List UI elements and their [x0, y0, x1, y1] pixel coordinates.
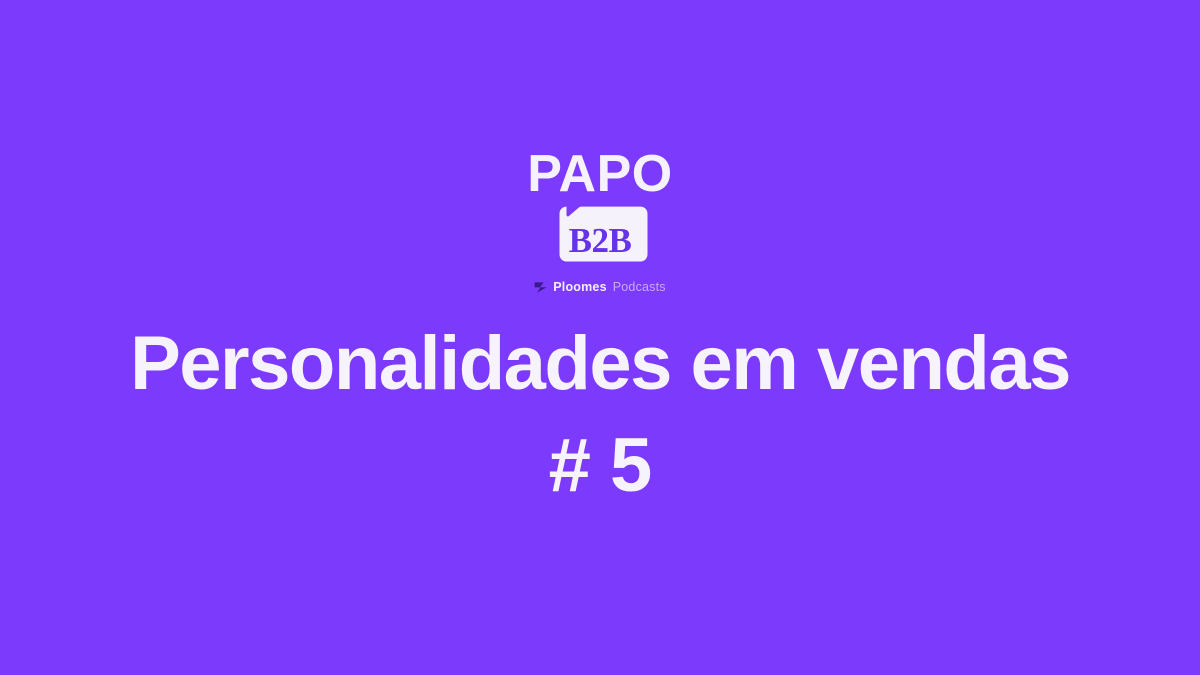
papo-b2b-logo: PAPO B2B Ploomes Podcasts [0, 148, 1200, 294]
episode-number: # 5 [0, 410, 1200, 522]
logo-bubble-text-b2b: B2B [550, 206, 650, 268]
byline-suffix-label: Podcasts [613, 281, 666, 294]
byline-brand-label: Ploomes [553, 281, 607, 294]
logo-wordmark-papo: PAPO [527, 148, 673, 200]
podcast-cover-slide: PAPO B2B Ploomes Podcasts Personalidades… [0, 0, 1200, 675]
play-arrow-icon [534, 282, 547, 293]
episode-title: Personalidades em vendas [0, 318, 1200, 410]
logo-speech-bubble: B2B [550, 206, 650, 268]
logo-byline: Ploomes Podcasts [534, 280, 666, 294]
headline-block: Personalidades em vendas # 5 [0, 318, 1200, 522]
